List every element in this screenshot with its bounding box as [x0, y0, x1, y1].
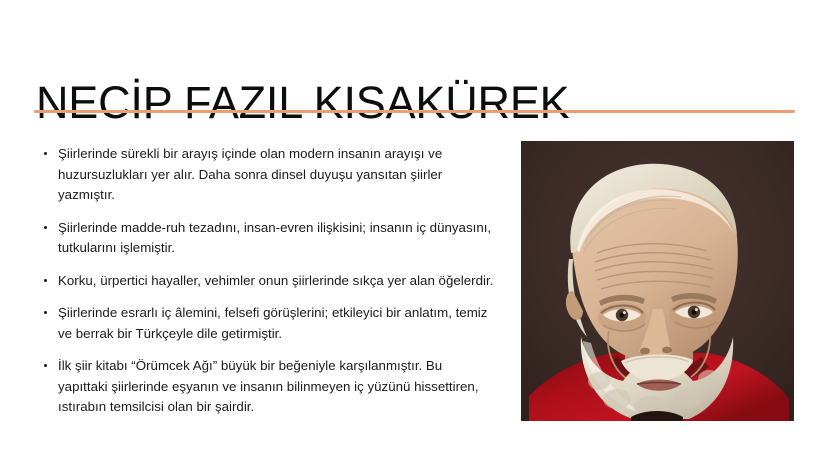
bullet-dot-icon: [44, 364, 47, 367]
bullet-list: Şiirlerinde sürekli bir arayış içinde ol…: [40, 144, 495, 418]
slide-canvas: NECİP FAZIL KISAKÜREK Şiirlerinde sürekl…: [0, 0, 828, 466]
title-divider-line: [34, 110, 795, 113]
list-item-text: İlk şiir kitabı “Örümcek Ağı” büyük bir …: [58, 356, 495, 418]
list-item-text: Şiirlerinde sürekli bir arayış içinde ol…: [58, 144, 495, 206]
page-title: NECİP FAZIL KISAKÜREK: [36, 78, 796, 128]
list-item: Şiirlerinde madde-ruh tezadını, insan-ev…: [40, 218, 495, 259]
list-item: İlk şiir kitabı “Örümcek Ağı” büyük bir …: [40, 356, 495, 418]
list-item-text: Korku, ürpertici hayaller, vehimler onun…: [58, 271, 495, 292]
bullet-dot-icon: [44, 311, 47, 314]
portrait-illustration: [521, 141, 794, 421]
list-item-text: Şiirlerinde esrarlı iç âlemini, felsefi …: [58, 303, 495, 344]
list-item-text: Şiirlerinde madde-ruh tezadını, insan-ev…: [58, 218, 495, 259]
list-item: Şiirlerinde sürekli bir arayış içinde ol…: [40, 144, 495, 206]
bullet-dot-icon: [44, 279, 47, 282]
bullet-dot-icon: [44, 226, 47, 229]
portrait-photo: [521, 141, 794, 421]
list-item: Korku, ürpertici hayaller, vehimler onun…: [40, 271, 495, 292]
bullet-dot-icon: [44, 152, 47, 155]
list-item: Şiirlerinde esrarlı iç âlemini, felsefi …: [40, 303, 495, 344]
